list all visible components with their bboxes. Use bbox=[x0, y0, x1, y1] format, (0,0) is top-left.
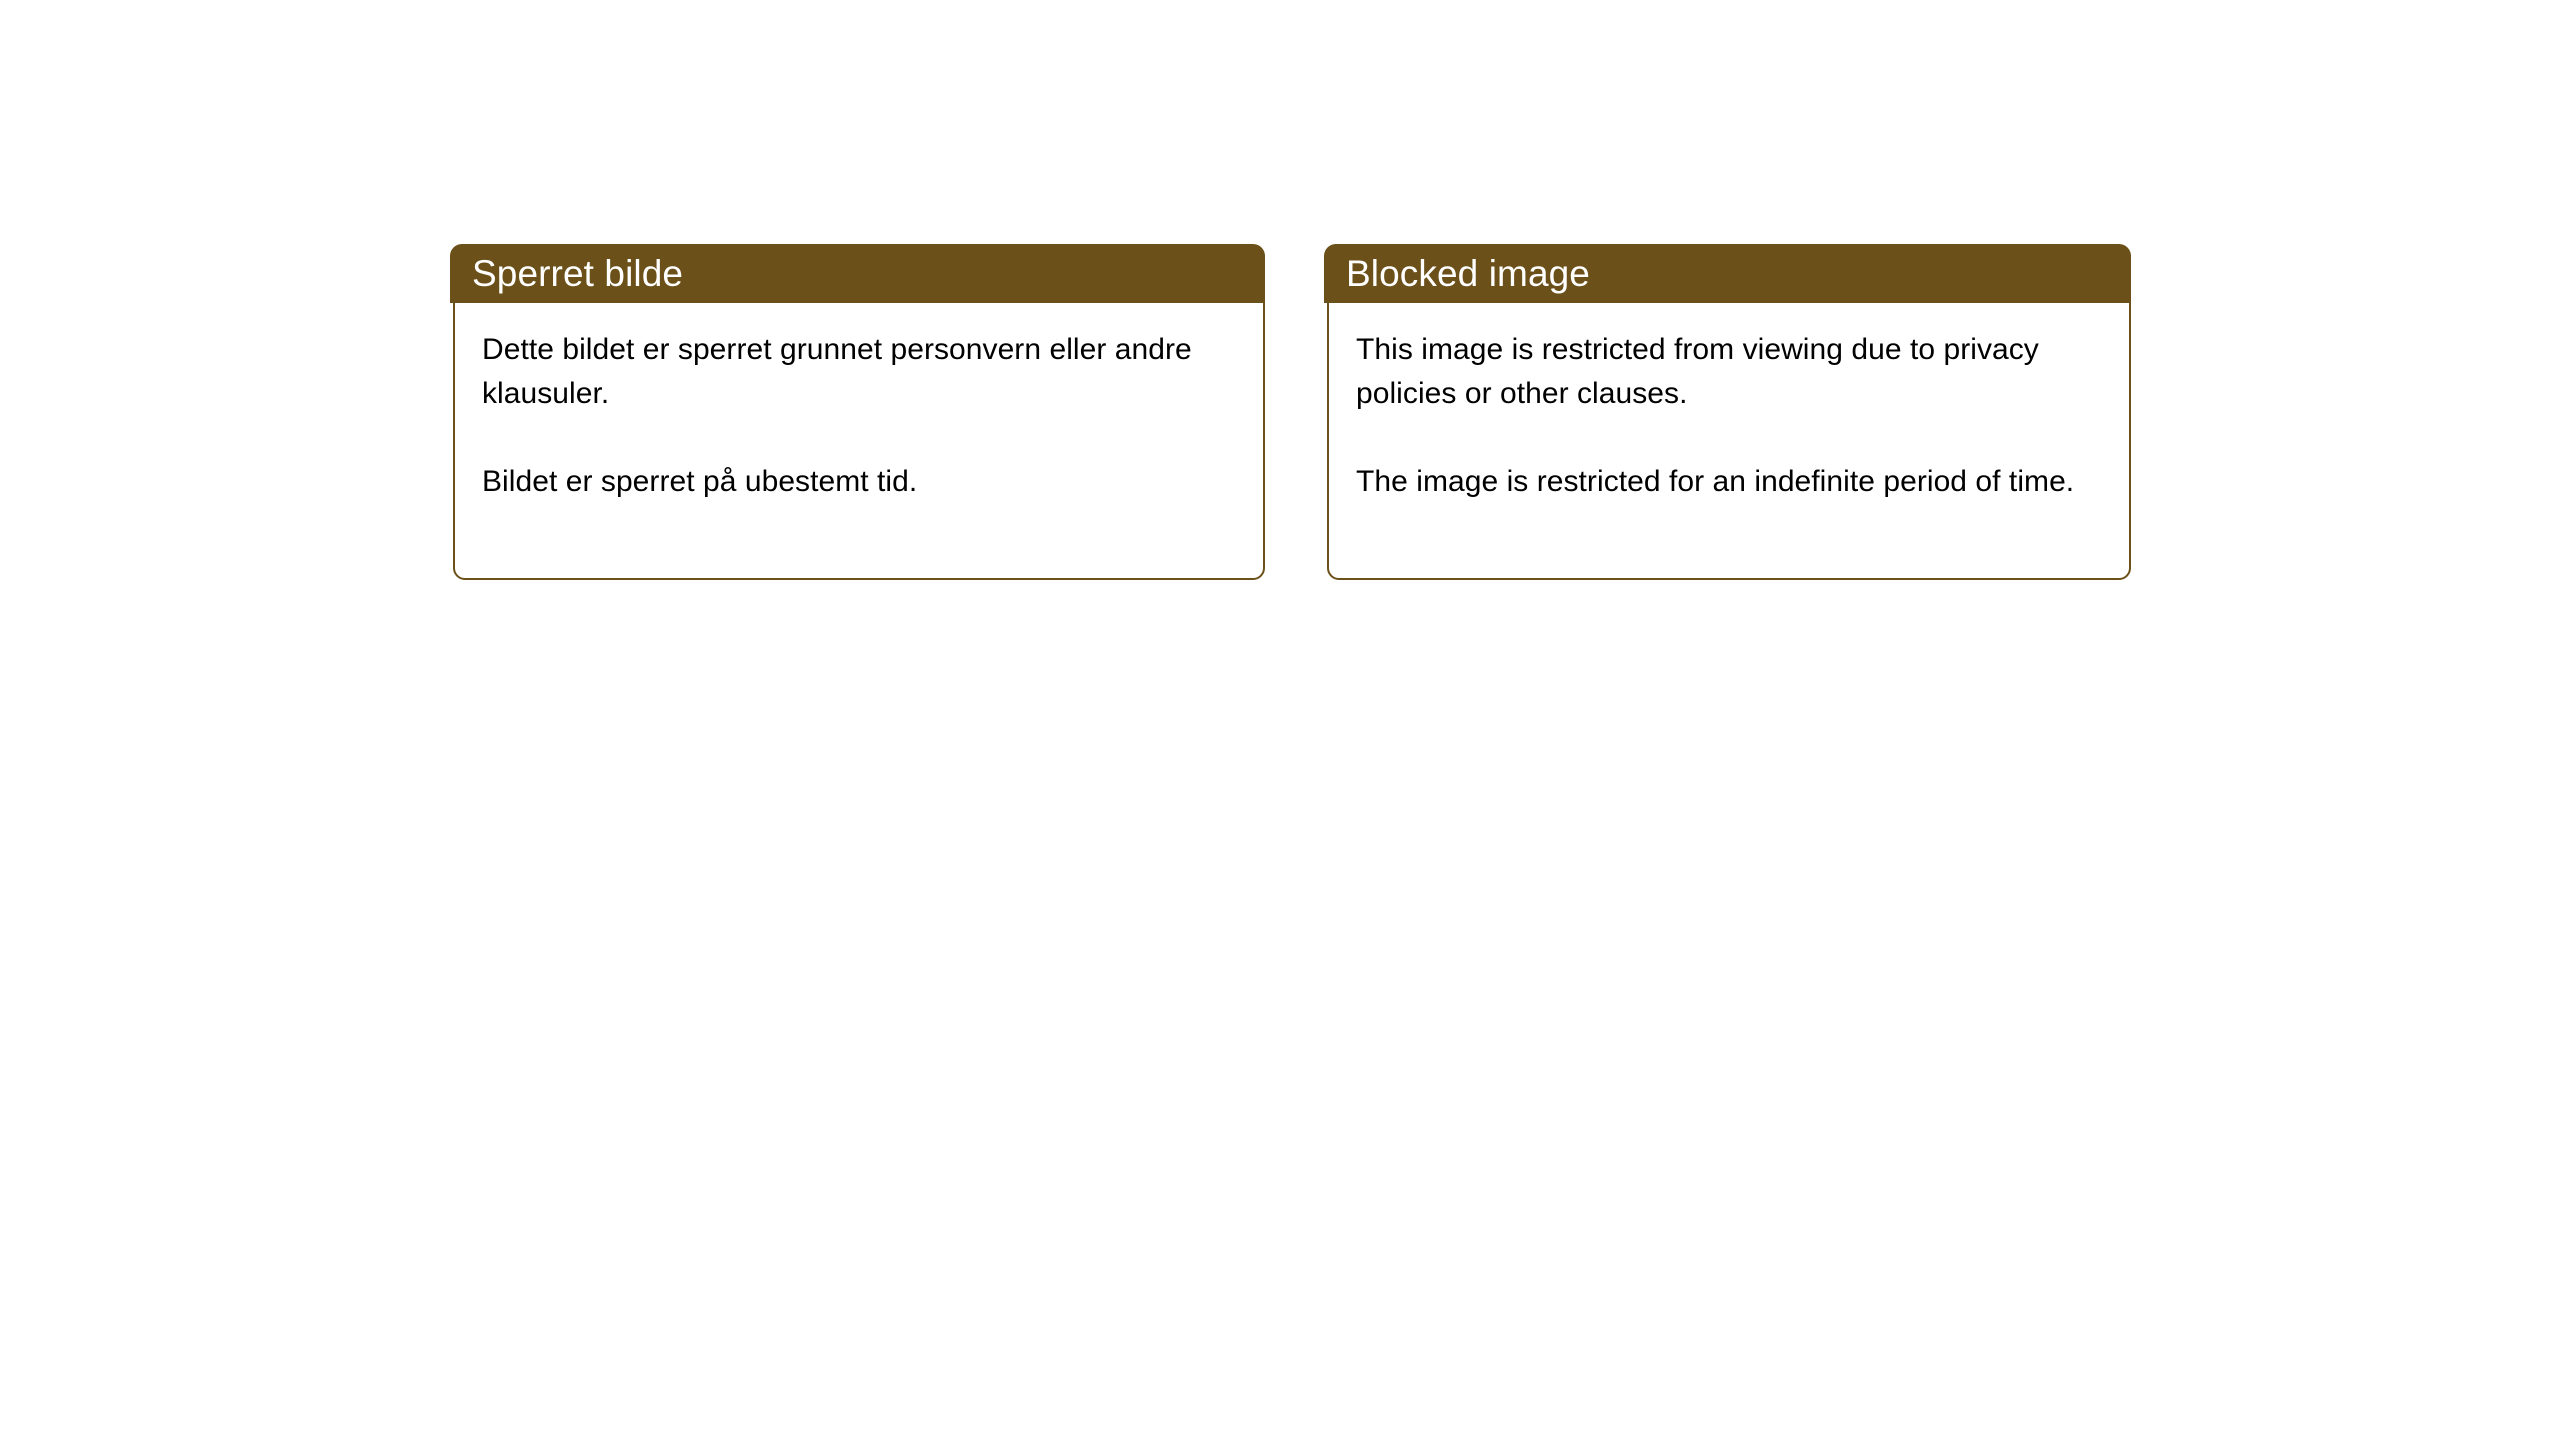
blocked-image-notice-norwegian: Sperret bilde Dette bildet er sperret gr… bbox=[450, 244, 1270, 580]
page-canvas: Sperret bilde Dette bildet er sperret gr… bbox=[0, 0, 2560, 1440]
notice-header-english: Blocked image bbox=[1324, 244, 2131, 303]
notice-text-block-english: This image is restricted from viewing du… bbox=[1329, 302, 2129, 504]
notice-paragraph-reason-english: This image is restricted from viewing du… bbox=[1356, 328, 2105, 416]
notice-title-norwegian: Sperret bilde bbox=[472, 255, 683, 292]
notice-paragraph-reason-norwegian: Dette bildet er sperret grunnet personve… bbox=[482, 328, 1239, 416]
notice-paragraph-duration-english: The image is restricted for an indefinit… bbox=[1356, 460, 2105, 504]
notice-title-english: Blocked image bbox=[1346, 255, 1590, 292]
notice-text-block-norwegian: Dette bildet er sperret grunnet personve… bbox=[455, 302, 1263, 504]
blocked-image-notice-english: Blocked image This image is restricted f… bbox=[1324, 244, 2136, 580]
notice-paragraph-duration-norwegian: Bildet er sperret på ubestemt tid. bbox=[482, 460, 1239, 504]
notice-header-norwegian: Sperret bilde bbox=[450, 244, 1265, 303]
notice-body-norwegian: Dette bildet er sperret grunnet personve… bbox=[453, 300, 1265, 580]
notice-body-english: This image is restricted from viewing du… bbox=[1327, 300, 2131, 580]
